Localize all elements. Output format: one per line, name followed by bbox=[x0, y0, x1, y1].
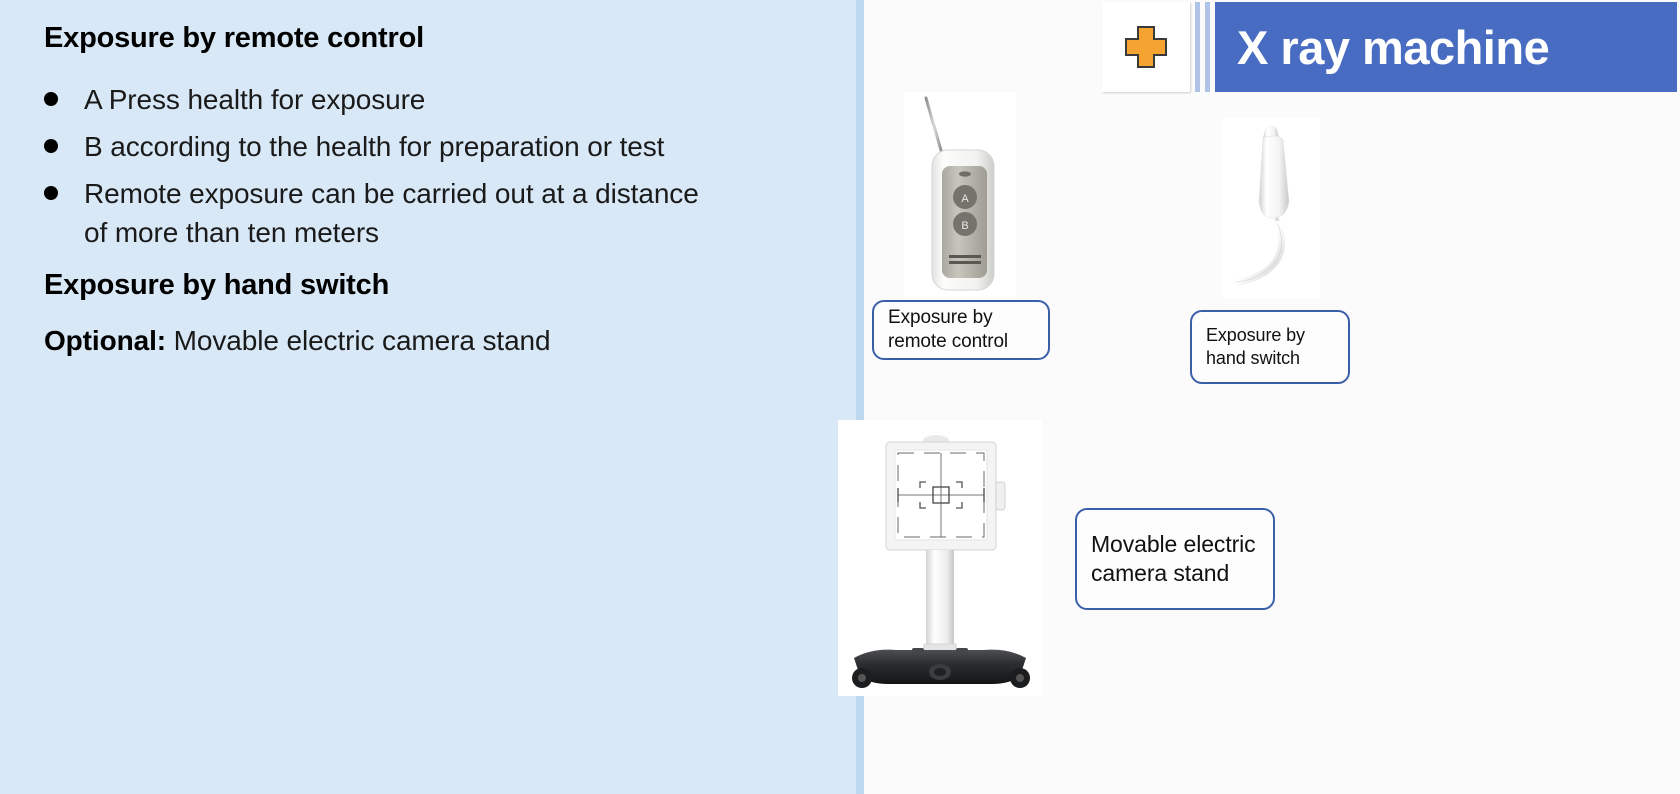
spacer bbox=[44, 261, 804, 269]
camera-stand-photo bbox=[838, 420, 1042, 696]
bullet-dot-icon bbox=[44, 186, 58, 200]
callout-remote-line1: Exposure by bbox=[888, 307, 993, 328]
svg-text:A: A bbox=[961, 193, 969, 205]
heading-exposure-hand-switch: Exposure by hand switch bbox=[44, 269, 804, 302]
page-title: X ray machine bbox=[1237, 20, 1549, 75]
optional-label: Optional: bbox=[44, 325, 166, 356]
list-item: A Press health for exposure bbox=[44, 81, 804, 120]
orange-cross-icon bbox=[1118, 19, 1174, 75]
callout-stand-line1: Movable electric bbox=[1091, 531, 1256, 557]
callout-exposure-remote-control: Exposure byremote control bbox=[872, 300, 1050, 360]
callout-hand-text: Exposure byhand switch bbox=[1206, 324, 1305, 369]
callout-exposure-hand-switch: Exposure byhand switch bbox=[1190, 310, 1350, 384]
list-item: B according to the health for preparatio… bbox=[44, 128, 804, 167]
slide-root: Exposure by remote control A Press healt… bbox=[0, 0, 1680, 794]
callout-hand-line2: hand switch bbox=[1206, 348, 1300, 368]
hand-switch-photo bbox=[1222, 118, 1320, 298]
bullet-text-b: B according to the health for preparatio… bbox=[84, 128, 664, 167]
camera-stand-illustration bbox=[838, 420, 1042, 696]
callout-remote-text: Exposure byremote control bbox=[888, 306, 1008, 354]
callout-stand-line2: camera stand bbox=[1091, 560, 1229, 586]
callout-stand-text: Movable electriccamera stand bbox=[1091, 530, 1256, 588]
left-panel-content: Exposure by remote control A Press healt… bbox=[44, 22, 804, 358]
bullet-text-remote-distance: Remote exposure can be carried out at a … bbox=[84, 175, 724, 253]
callout-hand-line1: Exposure by bbox=[1206, 325, 1305, 345]
remote-control-illustration: A B bbox=[904, 92, 1016, 300]
cross-icon-box bbox=[1102, 2, 1190, 92]
bullet-dot-icon bbox=[44, 92, 58, 106]
optional-line: Optional: Movable electric camera stand bbox=[44, 324, 804, 358]
callout-movable-camera-stand: Movable electriccamera stand bbox=[1075, 508, 1275, 610]
hand-switch-illustration bbox=[1222, 118, 1320, 298]
bullet-dot-icon bbox=[44, 139, 58, 153]
bullet-text-a: A Press health for exposure bbox=[84, 81, 425, 120]
list-item: Remote exposure can be carried out at a … bbox=[44, 175, 804, 253]
svg-text:B: B bbox=[961, 220, 968, 232]
header-title-cluster: X ray machine bbox=[1102, 2, 1677, 94]
accent-bar-2 bbox=[1205, 2, 1210, 92]
callout-remote-line2: remote control bbox=[888, 331, 1008, 352]
optional-value: Movable electric camera stand bbox=[166, 325, 551, 356]
remote-control-photo: A B bbox=[904, 92, 1016, 300]
heading-exposure-remote-control: Exposure by remote control bbox=[44, 22, 804, 55]
title-banner: X ray machine bbox=[1215, 2, 1677, 92]
accent-bar-1 bbox=[1195, 2, 1200, 92]
